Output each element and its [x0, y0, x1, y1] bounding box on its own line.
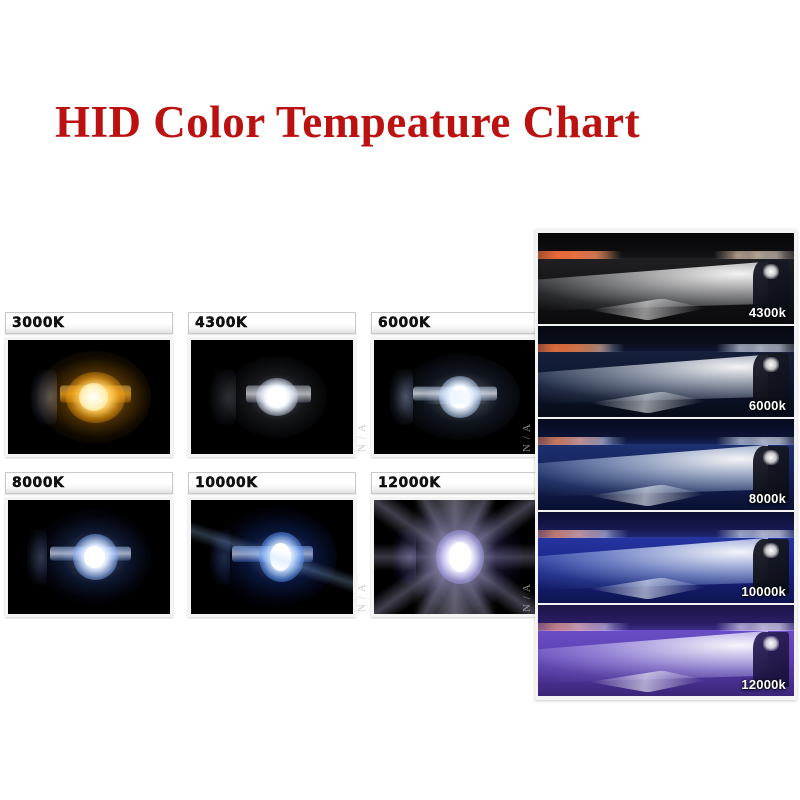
hid-bulb-icon — [8, 340, 170, 454]
bulb-label-plate: 6000K — [371, 312, 539, 334]
beam-card-10000k[interactable]: 10000k — [538, 512, 794, 603]
bulb-label-text: 12000K — [378, 475, 441, 492]
hid-bulb-icon — [374, 500, 536, 614]
bulb-label-text: 4300K — [195, 315, 247, 332]
watermark-column-upper: N / A — [521, 423, 533, 452]
bulb-label-plate: 12000K — [371, 472, 539, 494]
beam-label-text: 12000k — [741, 677, 786, 692]
beam-label-text: 6000k — [749, 398, 786, 413]
hid-bulb-icon — [191, 500, 353, 614]
page-title: HID Color Tempeature Chart — [55, 96, 755, 148]
bulb-card-8000k[interactable]: 8000K — [5, 472, 173, 617]
bulb-card-4300k[interactable]: 4300K — [188, 312, 356, 457]
hid-bulb-icon — [374, 340, 536, 454]
bulb-label-text: 10000K — [195, 475, 258, 492]
bulb-label-plate: 3000K — [5, 312, 173, 334]
bulb-label-plate: 8000K — [5, 472, 173, 494]
beam-card-12000k[interactable]: 12000k — [538, 605, 794, 696]
bulb-card-3000k[interactable]: 3000K — [5, 312, 173, 457]
bulb-photo-3000k — [5, 337, 173, 457]
bulb-label-text: 6000K — [378, 315, 430, 332]
beam-photo-column: 4300k 6000k — [535, 229, 797, 700]
bulb-photo-4300k — [188, 337, 356, 457]
beam-label-text: 4300k — [749, 305, 786, 320]
beam-label-text: 8000k — [749, 491, 786, 506]
beam-card-4300k[interactable]: 4300k — [538, 233, 794, 324]
hid-bulb-icon — [191, 340, 353, 454]
bulb-photo-12000k — [371, 497, 539, 617]
watermark-column-lower: N / A — [521, 583, 533, 612]
beam-label-text: 10000k — [741, 584, 786, 599]
watermark-lower: N / A — [356, 583, 368, 612]
bulb-card-10000k[interactable]: 10000K — [188, 472, 356, 617]
bulb-photo-8000k — [5, 497, 173, 617]
bulb-label-text: 8000K — [12, 475, 64, 492]
hid-color-temperature-chart-page: HID Color Tempeature Chart 3000K 4300K — [0, 0, 800, 800]
beam-card-6000k[interactable]: 6000k — [538, 326, 794, 417]
bulb-label-text: 3000K — [12, 315, 64, 332]
bulb-label-plate: 10000K — [188, 472, 356, 494]
bulb-card-6000k[interactable]: 6000K — [371, 312, 539, 457]
bulb-label-plate: 4300K — [188, 312, 356, 334]
beam-card-8000k[interactable]: 8000k — [538, 419, 794, 510]
bulb-photo-10000k — [188, 497, 356, 617]
bulb-photo-6000k — [371, 337, 539, 457]
hid-bulb-icon — [8, 500, 170, 614]
bulb-card-12000k[interactable]: 12000K — [371, 472, 539, 617]
watermark-upper: N / A — [356, 423, 368, 452]
